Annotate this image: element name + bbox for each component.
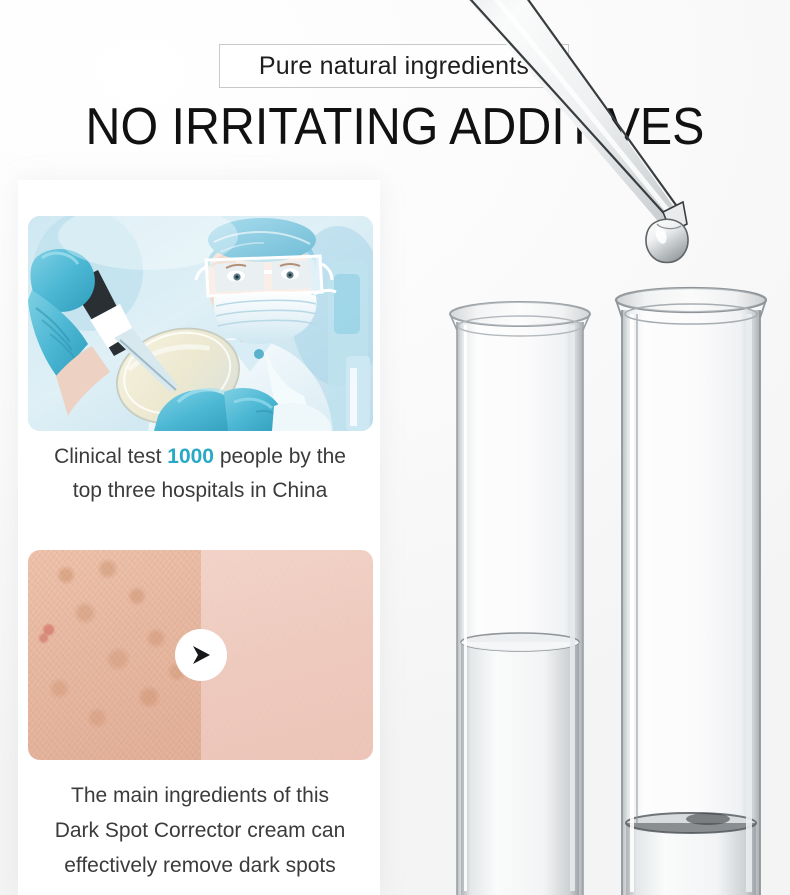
arrow-right-icon [188,642,214,668]
test-tube-right [616,288,766,895]
caption-line-2: top three hospitals in China [22,474,378,508]
caption-line-1: Clinical test 1000 people by the [22,440,378,474]
caption2-line-3: effectively remove dark spots [22,848,378,883]
test-tubes-svg [430,270,790,895]
clinical-test-caption: Clinical test 1000 people by the top thr… [22,440,378,508]
caption-text-pre: Clinical test [54,445,167,468]
caption2-line-2: Dark Spot Corrector cream can [22,813,378,848]
test-tubes-group [430,270,790,895]
subtitle-label: Pure natural ingredients [219,44,569,88]
lab-scientist-illustration [28,216,373,431]
product-feature-banner: NO IRRITATING ADDITIVES Pure natural ing… [0,0,790,895]
caption-text-post: people by the [214,445,346,468]
page-title: NO IRRITATING ADDITIVES [28,96,763,158]
lab-scientist-photo [28,216,373,431]
caption2-line-1: The main ingredients of this [22,778,378,813]
liquid-droplet [646,219,688,262]
before-after-badge [175,629,227,681]
dark-spot-caption: The main ingredients of this Dark Spot C… [22,778,378,883]
skin-before-after-photo [28,550,373,760]
test-tube-left [450,302,590,895]
clinical-test-count: 1000 [167,445,214,468]
